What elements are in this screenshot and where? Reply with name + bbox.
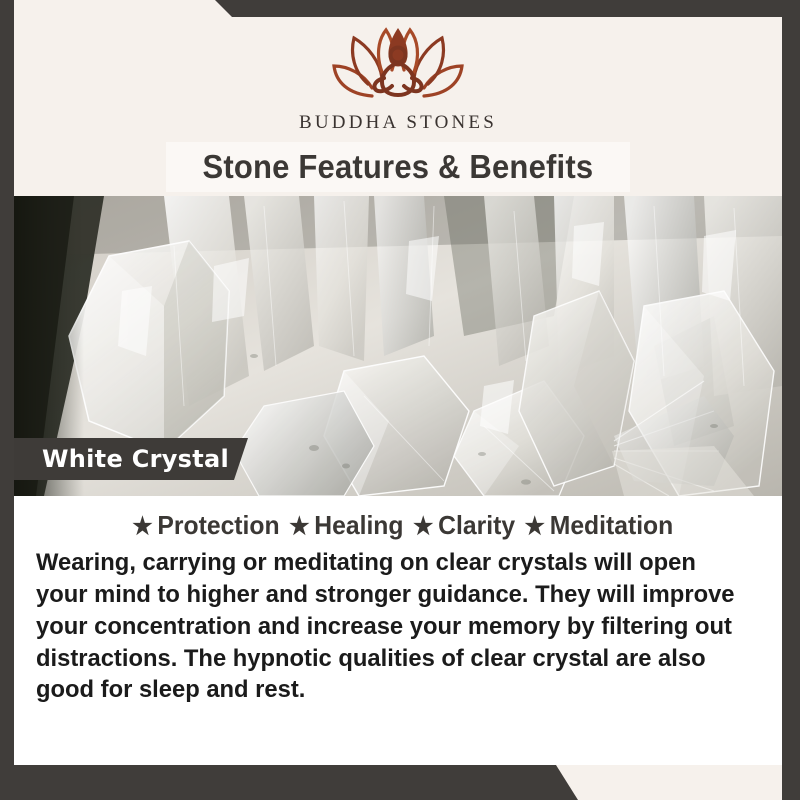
page-title: Stone Features & Benefits — [203, 148, 594, 186]
brand-logo: BUDDHA STONES — [14, 22, 782, 134]
crystal-photo: White Crystal — [14, 196, 782, 496]
benefit-item-meditation: ★Meditation — [515, 510, 673, 540]
benefits-list: ★Protection★Healing★Clarity★Meditation — [50, 510, 745, 541]
frame-left-accent — [0, 0, 14, 800]
stone-benefits-infographic: BUDDHA STONES Stone Features & Benefits — [0, 0, 800, 800]
benefit-item-protection: ★Protection — [123, 510, 280, 540]
stone-name-label: White Crystal — [42, 445, 229, 473]
page-title-band: Stone Features & Benefits — [166, 142, 630, 192]
benefit-label: Meditation — [550, 510, 674, 540]
benefit-label: Protection — [157, 510, 279, 540]
star-icon: ★ — [123, 512, 158, 541]
description-text: Wearing, carrying or meditating on clear… — [36, 547, 742, 706]
header-section: BUDDHA STONES Stone Features & Benefits — [14, 0, 782, 196]
star-icon: ★ — [403, 512, 438, 541]
star-icon: ★ — [280, 512, 315, 541]
frame-right-accent — [782, 0, 800, 800]
benefit-label: Healing — [314, 510, 403, 540]
brand-name: BUDDHA STONES — [14, 112, 782, 134]
benefit-item-healing: ★Healing — [280, 510, 404, 540]
frame-bottom-accent — [0, 765, 800, 800]
content-panel: ★Protection★Healing★Clarity★Meditation W… — [14, 496, 782, 765]
star-icon: ★ — [515, 512, 550, 541]
lotus-meditation-logo-icon — [328, 22, 468, 108]
benefit-label: Clarity — [438, 510, 515, 540]
benefit-item-clarity: ★Clarity — [403, 510, 515, 540]
